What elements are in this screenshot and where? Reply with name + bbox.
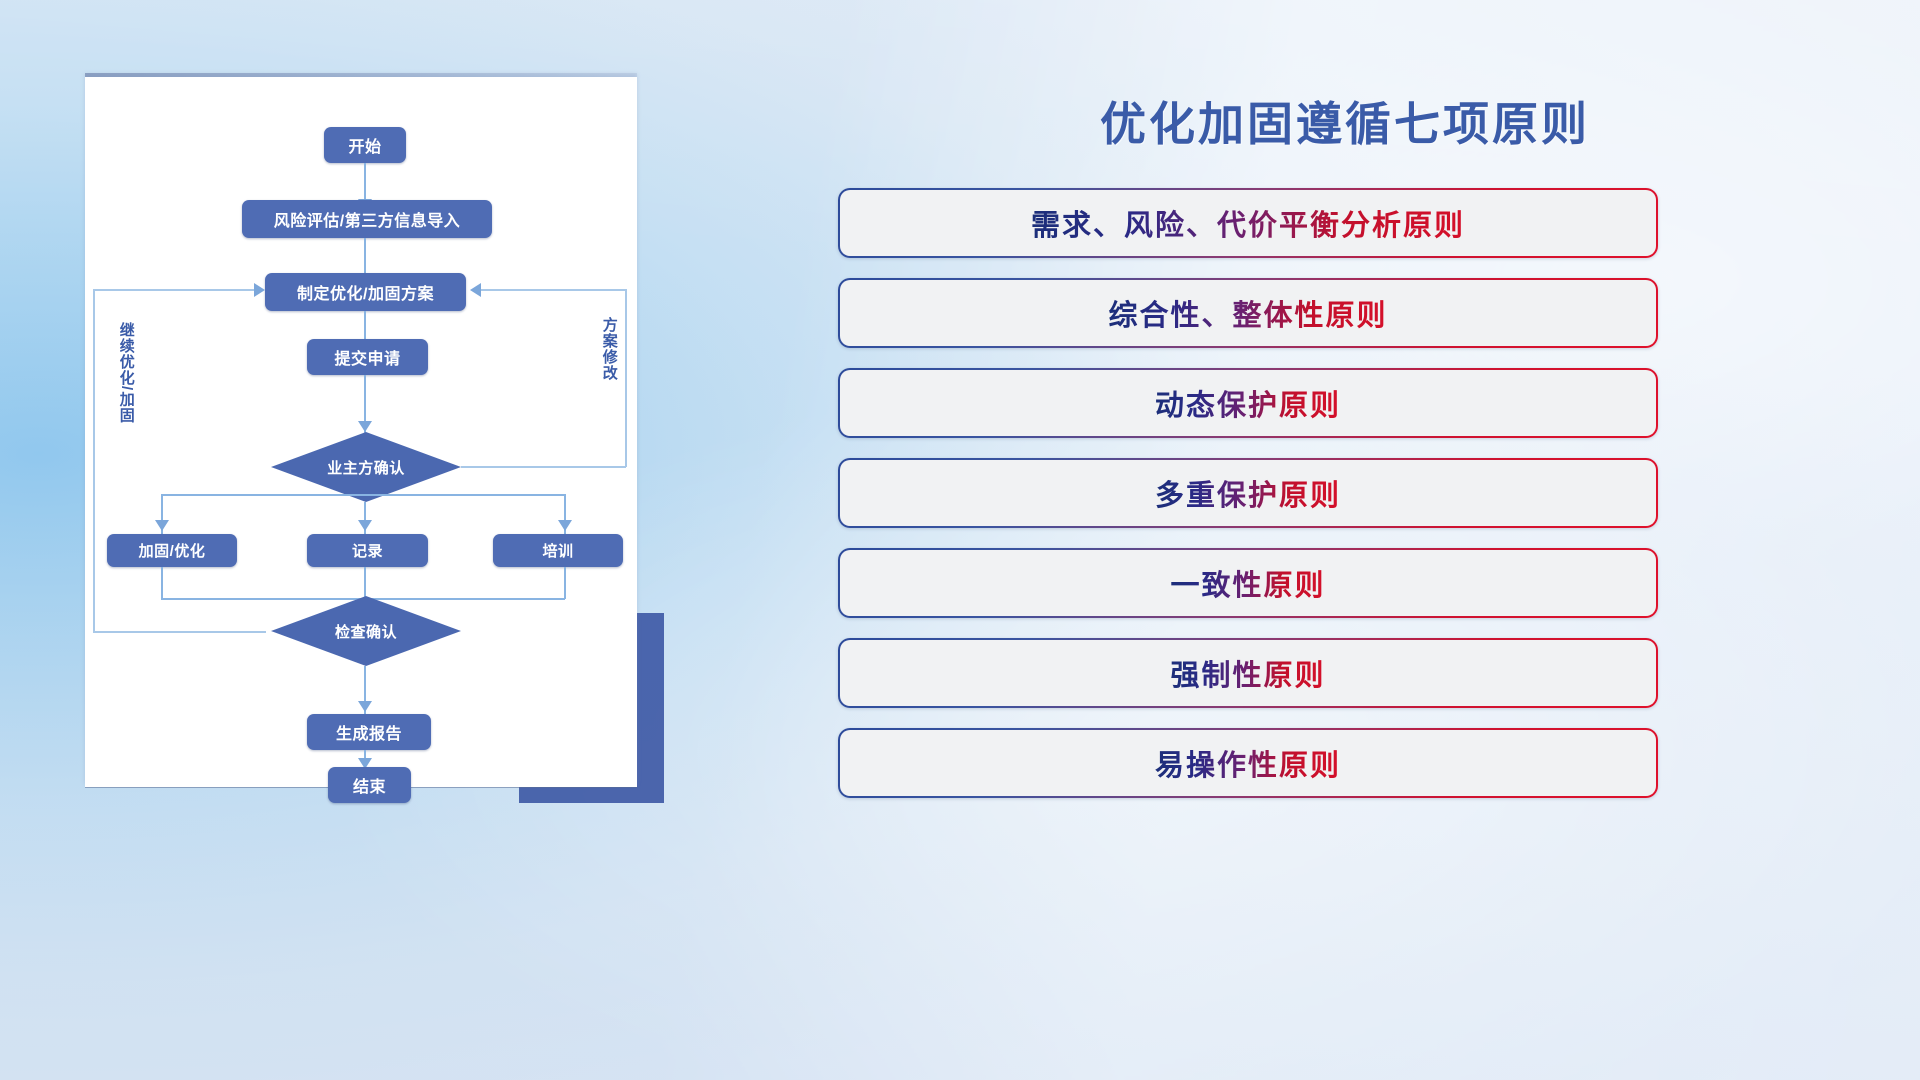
flow-decision-inspect-label: 检查确认	[335, 621, 397, 642]
merge-right-v	[564, 567, 566, 599]
flow-node-submit[interactable]: 提交申请	[307, 339, 428, 375]
principle-label: 强制性原则	[1170, 652, 1325, 694]
principle-card-inner: 易操作性原则	[840, 730, 1656, 796]
flow-decision-owner-confirm-label: 业主方确认	[327, 457, 405, 478]
merge-left-v	[161, 567, 163, 599]
principle-card-inner: 综合性、整体性原则	[840, 280, 1656, 346]
panel-title: 优化加固遵循七项原则	[820, 88, 1870, 154]
arrow-to-reinforce	[155, 520, 169, 531]
principle-label: 易操作性原则	[1155, 742, 1341, 784]
principle-card[interactable]: 动态保护原则	[838, 368, 1658, 438]
loop-right-rail-v	[625, 289, 627, 467]
flow-node-submit-label: 提交申请	[334, 345, 400, 369]
flow-node-reinforce-label: 加固/优化	[139, 540, 206, 561]
principle-card[interactable]: 一致性原则	[838, 548, 1658, 618]
flow-node-end[interactable]: 结束	[328, 767, 411, 803]
principles-panel: 优化加固遵循七项原则 需求、风险、代价平衡分析原则 综合性、整体性原则 动态保护…	[820, 70, 1870, 1010]
loop-right-top-h	[481, 289, 626, 291]
flow-node-reinforce[interactable]: 加固/优化	[107, 534, 237, 567]
flow-decision-inspect[interactable]: 检查确认	[271, 596, 461, 666]
principle-card-inner: 动态保护原则	[840, 370, 1656, 436]
flow-node-end-label: 结束	[353, 773, 386, 797]
flow-node-start[interactable]: 开始	[324, 127, 406, 163]
arrow-submit-to-ownercheck	[358, 421, 372, 432]
flow-node-risk[interactable]: 风险评估/第三方信息导入	[242, 200, 492, 238]
principle-card-inner: 需求、风险、代价平衡分析原则	[840, 190, 1656, 256]
flow-edge-label-right: 方案修改	[601, 317, 617, 381]
principle-label: 综合性、整体性原则	[1108, 292, 1387, 334]
arrow-to-record	[358, 520, 372, 531]
principle-card[interactable]: 需求、风险、代价平衡分析原则	[838, 188, 1658, 258]
principle-card-inner: 强制性原则	[840, 640, 1656, 706]
flow-node-record[interactable]: 记录	[307, 534, 428, 567]
flow-node-start-label: 开始	[348, 133, 381, 157]
loop-left-bottom-h	[93, 631, 266, 633]
loop-right-bottom-h	[461, 466, 626, 468]
flow-node-plan-label: 制定优化/加固方案	[297, 280, 434, 304]
principle-list: 需求、风险、代价平衡分析原则 综合性、整体性原则 动态保护原则 多重保护原则 一…	[838, 188, 1658, 818]
flow-node-report[interactable]: 生成报告	[307, 714, 431, 750]
flow-decision-owner-confirm[interactable]: 业主方确认	[271, 432, 461, 502]
flow-node-training-label: 培训	[542, 540, 573, 561]
principle-card[interactable]: 易操作性原则	[838, 728, 1658, 798]
arrow-loop-right-to-plan	[470, 283, 481, 297]
principle-label: 动态保护原则	[1155, 382, 1341, 424]
principle-card[interactable]: 强制性原则	[838, 638, 1658, 708]
arrow-loop-left-to-plan	[254, 283, 265, 297]
loop-left-rail-v	[93, 289, 95, 632]
arrow-inspect-to-report	[358, 701, 372, 712]
principle-card[interactable]: 综合性、整体性原则	[838, 278, 1658, 348]
flow-node-record-label: 记录	[352, 540, 383, 561]
principle-card-inner: 多重保护原则	[840, 460, 1656, 526]
flow-node-training[interactable]: 培训	[493, 534, 623, 567]
principle-label: 一致性原则	[1170, 562, 1325, 604]
flowchart-card: 开始 风险评估/第三方信息导入 制定优化/加固方案 提交申请 业主方确认 继续优…	[85, 77, 637, 787]
flow-edge-label-left: 继续优化/加固	[118, 322, 134, 423]
loop-left-top-h	[93, 289, 256, 291]
flow-node-risk-label: 风险评估/第三方信息导入	[274, 207, 460, 231]
connector-owner-fork-h	[161, 494, 565, 496]
principle-card[interactable]: 多重保护原则	[838, 458, 1658, 528]
flow-node-plan[interactable]: 制定优化/加固方案	[265, 273, 466, 311]
principle-label: 多重保护原则	[1155, 472, 1341, 514]
flow-node-report-label: 生成报告	[336, 720, 402, 744]
principle-card-inner: 一致性原则	[840, 550, 1656, 616]
principle-label: 需求、风险、代价平衡分析原则	[1031, 202, 1465, 244]
arrow-to-training	[558, 520, 572, 531]
